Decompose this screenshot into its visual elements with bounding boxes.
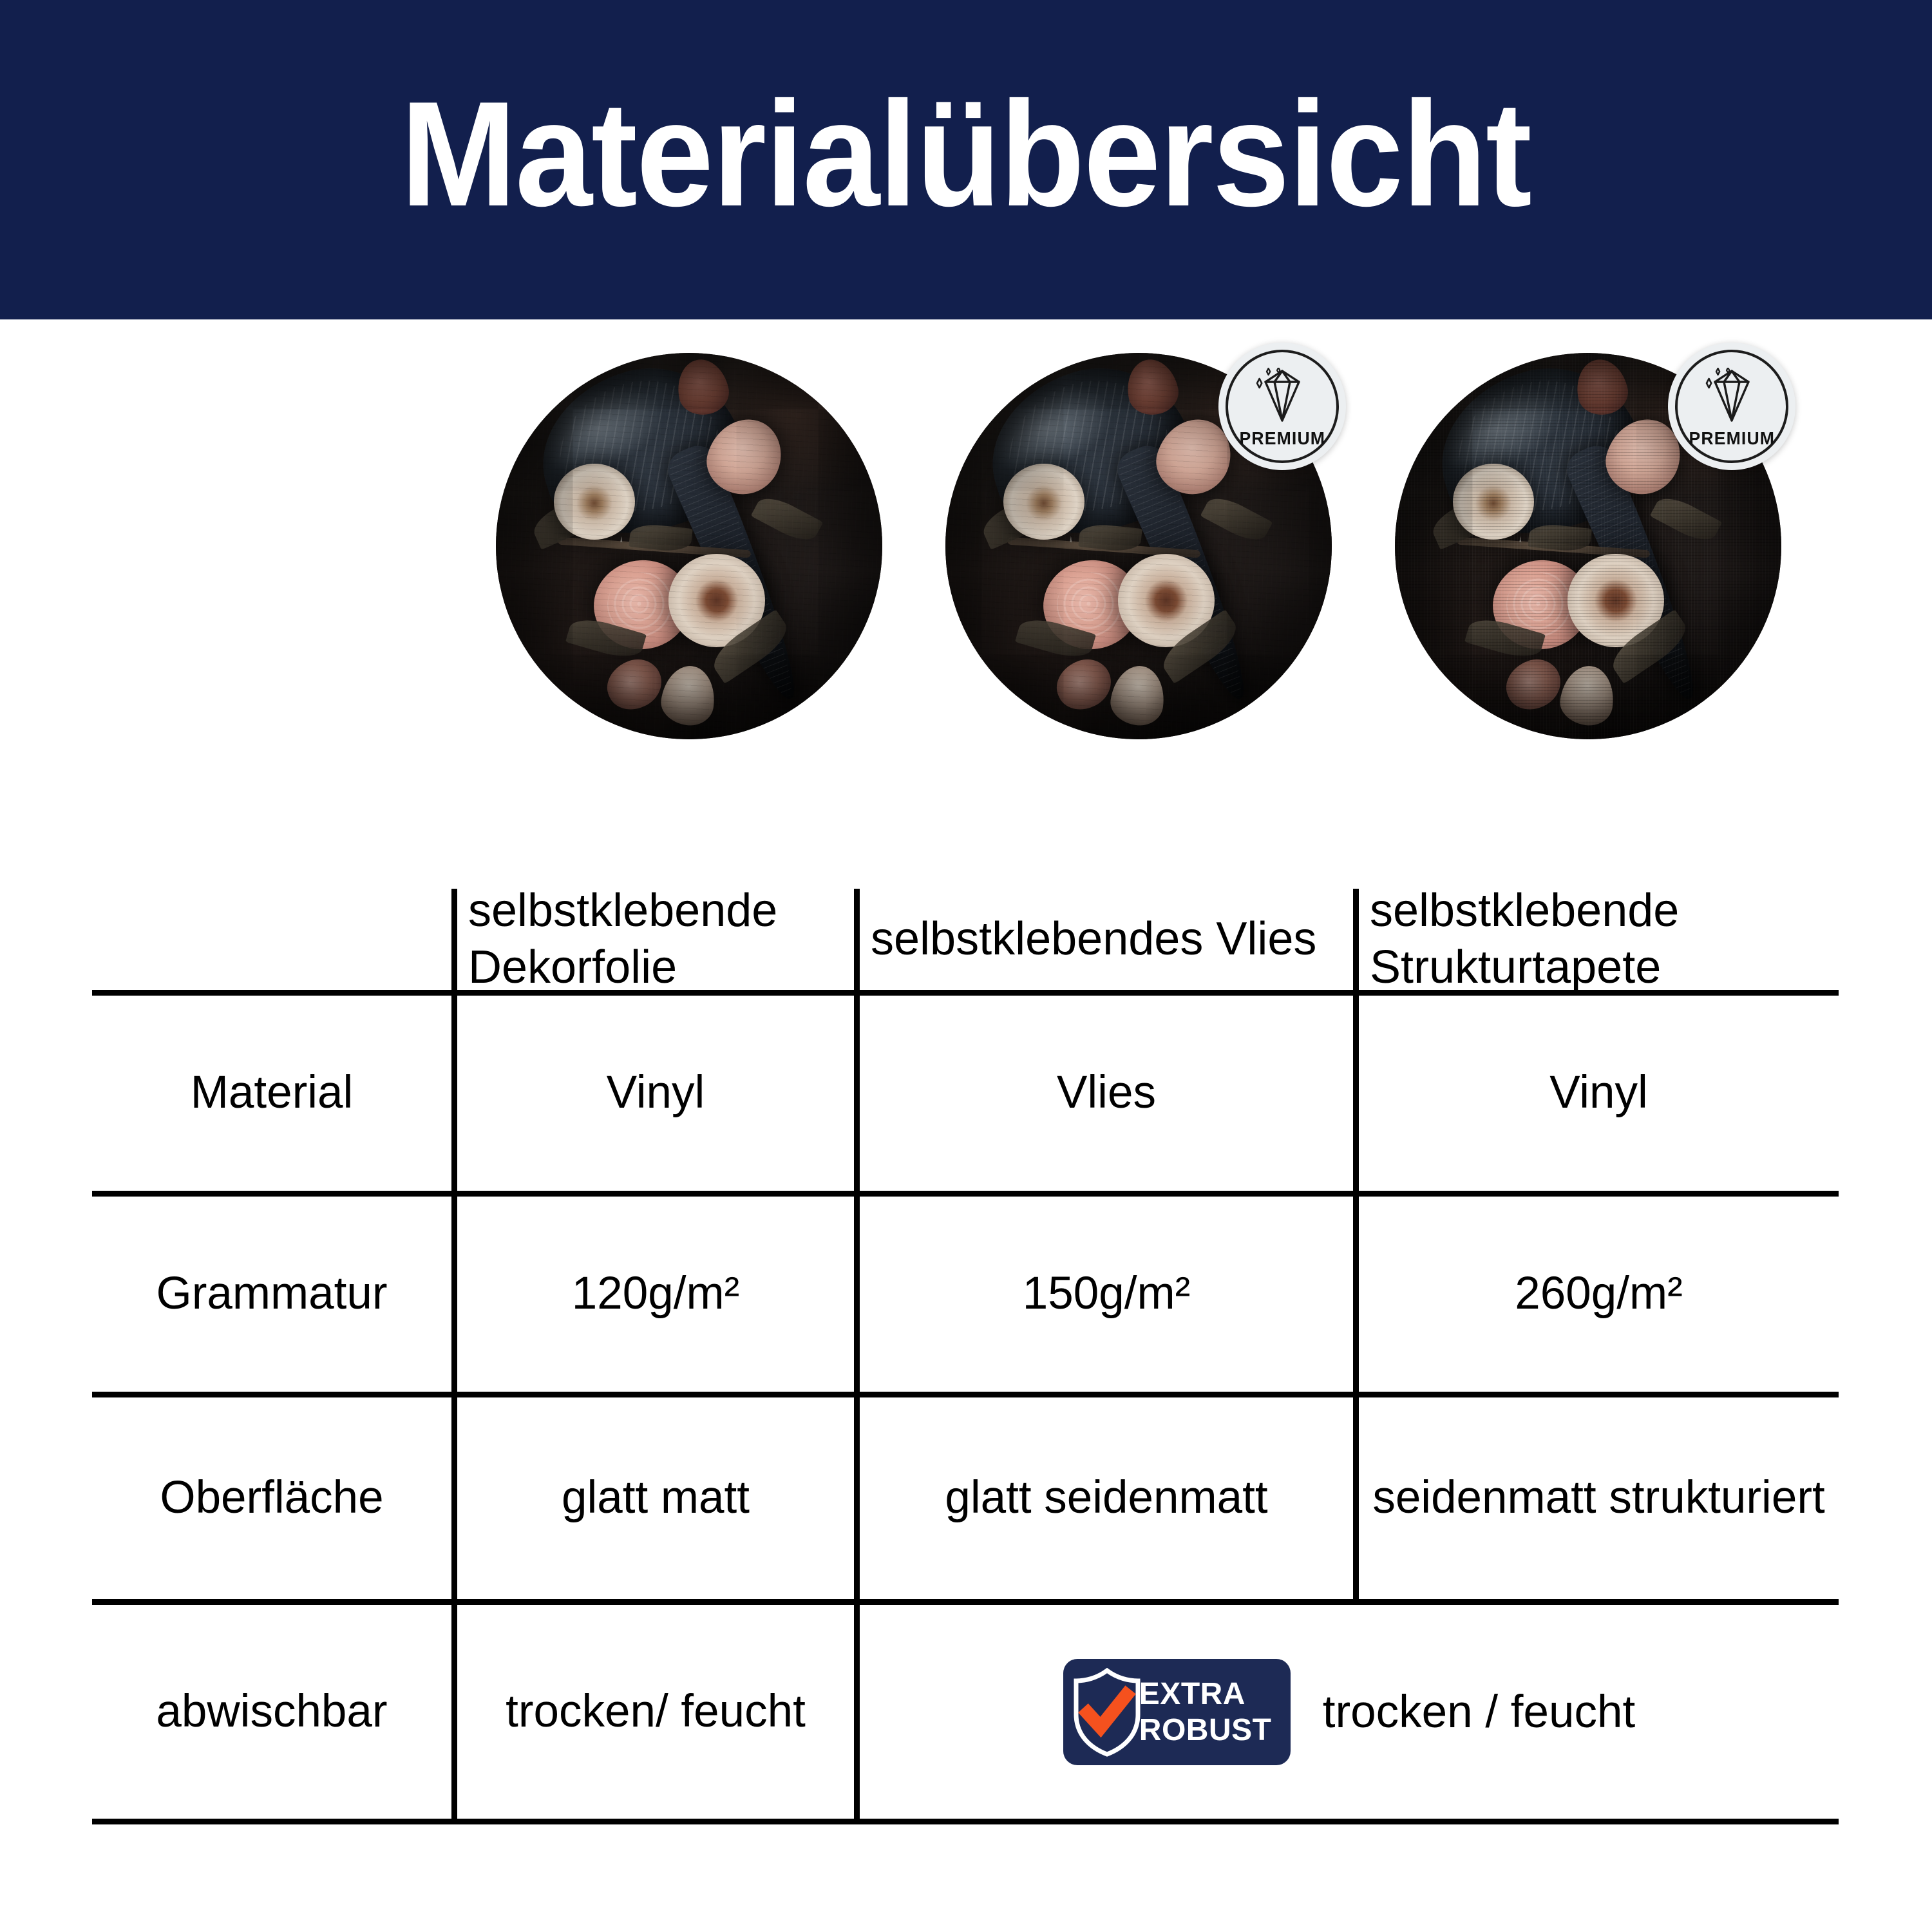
cell-grammatur-vlies: 150g/m²: [860, 1197, 1353, 1392]
table-rule: [92, 1599, 1839, 1605]
extra-robust-line1: EXTRA: [1139, 1679, 1245, 1710]
premium-badge-label: PREMIUM: [1239, 428, 1325, 449]
cell-oberflaeche-vlies: glatt seidenmatt: [860, 1397, 1353, 1599]
cell-abwischbar-merged: EXTRA ROBUST trocken / feucht: [860, 1605, 1839, 1819]
diamond-icon: [1249, 368, 1316, 424]
product-swatch-dekorfolie[interactable]: [496, 353, 882, 739]
cell-abwischbar-dekorfolie: trocken/ feucht: [457, 1605, 854, 1819]
extra-robust-line2: ROBUST: [1139, 1715, 1272, 1746]
header-band: Materialübersicht: [0, 0, 1932, 319]
row-label-oberflaeche: Oberfläche: [92, 1397, 451, 1599]
product-swatch-vlies[interactable]: PREMIUM: [945, 353, 1332, 739]
row-label-grammatur: Grammatur: [92, 1197, 451, 1392]
column-header-dekorfolie: selbstklebende Dekorfolie: [459, 891, 852, 989]
table-column-divider: [854, 889, 860, 1822]
artwork-circle: [496, 353, 882, 739]
page-title: Materialübersicht: [401, 80, 1531, 229]
artwork-vignette: [496, 353, 882, 739]
cell-material-strukturtapete: Vinyl: [1359, 996, 1839, 1191]
column-header-strukturtapete: selbstklebende Strukturtapete: [1361, 891, 1839, 989]
premium-badge: PREMIUM: [1218, 343, 1346, 470]
cell-material-vlies: Vlies: [860, 996, 1353, 1191]
table-column-divider: [451, 889, 457, 1822]
column-header-vlies: selbstklebendes Vlies: [862, 891, 1351, 989]
cell-grammatur-dekorfolie: 120g/m²: [457, 1197, 854, 1392]
row-label-abwischbar: abwischbar: [92, 1605, 451, 1819]
cell-abwischbar-vlies-strukturtapete: trocken / feucht: [1323, 1686, 1635, 1738]
cell-oberflaeche-dekorfolie: glatt matt: [457, 1397, 854, 1599]
product-swatch-strukturtapete[interactable]: PREMIUM: [1395, 353, 1781, 739]
table-rule: [92, 1819, 1839, 1824]
table-rule: [92, 1392, 1839, 1397]
diamond-icon: [1698, 368, 1765, 424]
shield-check-icon: [1071, 1668, 1143, 1757]
cell-oberflaeche-strukturtapete: seidenmatt strukturiert: [1359, 1397, 1839, 1599]
material-spec-table: selbstklebende Dekorfolie selbstklebende…: [92, 833, 1839, 1824]
cell-material-dekorfolie: Vinyl: [457, 996, 854, 1191]
product-swatch-row: PREMIUM: [0, 353, 1932, 752]
table-column-divider: [1353, 889, 1359, 1602]
table-rule: [92, 1191, 1839, 1197]
row-label-material: Material: [92, 996, 451, 1191]
premium-badge-label: PREMIUM: [1689, 428, 1775, 449]
extra-robust-badge: EXTRA ROBUST: [1063, 1659, 1291, 1765]
cell-grammatur-strukturtapete: 260g/m²: [1359, 1197, 1839, 1392]
premium-badge: PREMIUM: [1668, 343, 1795, 470]
extra-robust-text: EXTRA ROBUST: [1139, 1669, 1286, 1756]
